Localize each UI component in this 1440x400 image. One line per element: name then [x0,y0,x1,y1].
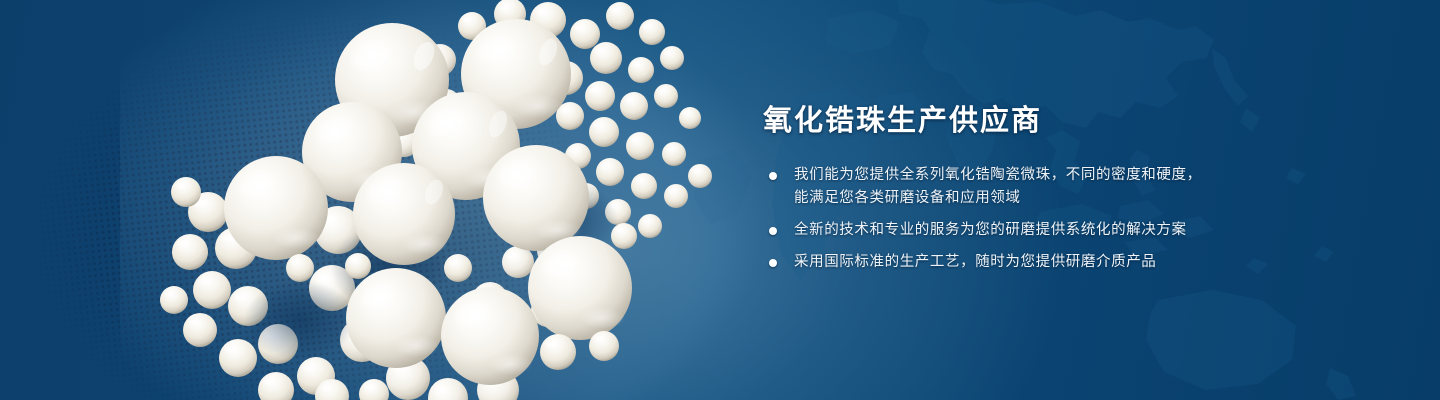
bullet-text-line-1: 全新的技术和专业的服务为您的研磨提供系统化的解决方案 [794,222,1187,238]
banner-bullet-item: 采用国际标准的生产工艺，随时为您提供研磨介质产品 [763,251,1403,274]
bullet-text-line-1: 采用国际标准的生产工艺，随时为您提供研磨介质产品 [794,254,1156,270]
banner-bullet-item: 全新的技术和专业的服务为您的研磨提供系统化的解决方案 [763,219,1403,242]
bullet-dot-icon [769,227,777,235]
banner-text-block: 氧化锆珠生产供应商 我们能为您提供全系列氧化锆陶瓷微珠，不同的密度和硬度， 能满… [763,104,1403,274]
zirconia-bead-cluster-image [0,0,780,400]
halftone-dot-shadow [0,0,721,400]
hero-banner: 氧化锆珠生产供应商 我们能为您提供全系列氧化锆陶瓷微珠，不同的密度和硬度， 能满… [0,0,1440,400]
bullet-dot-icon [769,172,777,180]
bullet-dot-icon [769,259,777,267]
banner-headline: 氧化锆珠生产供应商 [763,104,1403,138]
bullet-text-line-2: 能满足您各类研磨设备和应用领域 [794,187,1403,210]
bullet-text-line-1: 我们能为您提供全系列氧化锆陶瓷微珠，不同的密度和硬度， [794,167,1202,183]
banner-bullet-list: 我们能为您提供全系列氧化锆陶瓷微珠，不同的密度和硬度， 能满足您各类研磨设备和应… [763,164,1403,274]
banner-bullet-item: 我们能为您提供全系列氧化锆陶瓷微珠，不同的密度和硬度， 能满足您各类研磨设备和应… [763,164,1403,210]
bead-cluster-glow [120,0,760,400]
